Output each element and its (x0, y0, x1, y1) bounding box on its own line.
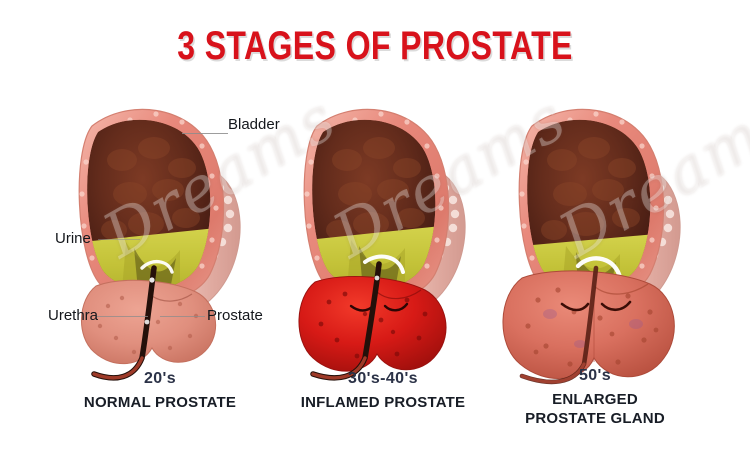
caption-normal-prostate: 20's NORMAL PROSTATE (35, 370, 285, 412)
caption-name-enlarged-1: ENLARGED (470, 391, 720, 409)
caption-age-enlarged: 50's (470, 367, 720, 386)
leader-line-bladder (182, 133, 228, 134)
label-bladder: Bladder (228, 116, 280, 133)
caption-enlarged-prostate: 50's ENLARGED PROSTATE GLAND (470, 367, 720, 427)
label-urine: Urine (55, 230, 91, 247)
illustration-canvas: 3 STAGES OF PROSTATE (0, 0, 750, 450)
caption-age-normal: 20's (35, 370, 285, 389)
label-prostate: Prostate (207, 307, 263, 324)
leader-line-urethra (96, 316, 148, 317)
caption-name-normal: NORMAL PROSTATE (35, 394, 285, 412)
leader-line-prostate (160, 316, 205, 317)
leader-line-urine (98, 239, 140, 240)
figure-enlarged-prostate (470, 90, 720, 375)
page-title: 3 STAGES OF PROSTATE (75, 24, 675, 69)
caption-name-enlarged-2: PROSTATE GLAND (470, 410, 720, 428)
label-urethra: Urethra (48, 307, 98, 324)
figure-inflamed-prostate (255, 90, 505, 375)
